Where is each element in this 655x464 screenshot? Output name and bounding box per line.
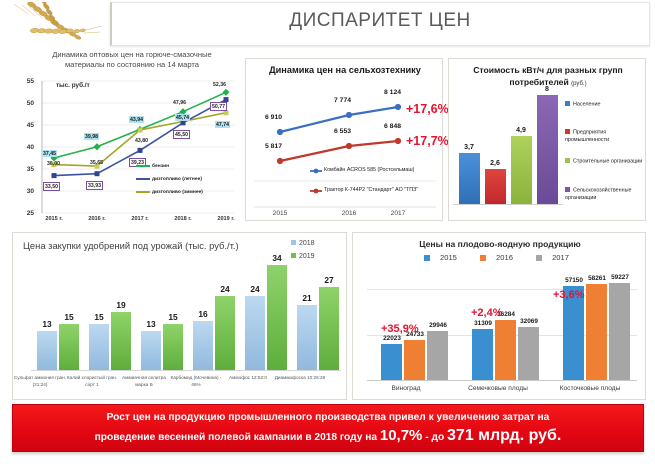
legend-swatch-construction [565, 158, 570, 163]
banner-line-2: проведение весенней полевой кампании в 2… [95, 427, 562, 445]
machinery-xtick-2017: 2017 [378, 210, 418, 217]
fuel-label-diesel-summer-2016: 33,93 [86, 181, 103, 190]
chart-fuel-prices: Динамика оптовых цен на горюче-смазочные… [12, 48, 240, 226]
fruit-bar-2015-pome [472, 329, 493, 381]
summary-banner: Рост цен на продукцию промышленного прои… [12, 404, 644, 452]
electricity-bar-construction [511, 136, 532, 205]
fertilizer-legend-label-2018: 2018 [299, 240, 315, 247]
chart-electricity-title: Стоимость кВт/ч для разных групп потреби… [455, 65, 641, 88]
fertilizer-xtick-1: Калий хлористый гран. сорт 1 [63, 375, 121, 389]
legend-swatch-fruit-2017 [536, 255, 542, 261]
fruit-value-2017-pome: 32069 [515, 318, 543, 325]
legend-swatch-industry [565, 129, 570, 134]
fertilizer-bar-2018-2 [141, 331, 161, 371]
fuel-label-diesel-summer-2018: 45,50 [173, 130, 190, 139]
fruit-legend-2015: 2015 [424, 253, 464, 262]
legend-marker-diesel-winter [136, 191, 150, 193]
chart-fruit-title: Цены на плодово-яодную продукцию [353, 239, 647, 249]
banner-highlight-amount: 371 млрд. руб. [447, 427, 561, 444]
electricity-bar-population [459, 153, 480, 205]
fruit-bar-2015-grapes [381, 344, 402, 381]
fuel-legend-diesel-summer: дизтопливо (летнее) [136, 177, 202, 182]
electricity-legend-label-agriculture: Сельскохозяйственные организации [565, 188, 631, 201]
fertilizer-value-2018-5: 21 [296, 293, 318, 303]
fruit-pct-pome: +2,4% [471, 307, 503, 319]
fruit-legend-label-2015: 2015 [440, 253, 457, 262]
chart-electricity-cost: Стоимость кВт/ч для разных групп потреби… [448, 58, 646, 221]
legend-swatch-2019 [291, 253, 296, 258]
fruit-legend-2016: 2016 [480, 253, 520, 262]
fertilizer-value-2018-3: 16 [192, 309, 214, 319]
machinery-legend-tractor: Трактор К-744Р2 "Стандарт" АО "ТПЗ" [324, 187, 418, 193]
fuel-label-benzin-2015: 37,45 [42, 150, 57, 157]
fertilizer-value-2018-2: 13 [140, 319, 162, 329]
electricity-legend-construction: Строительные организации [565, 158, 645, 166]
electricity-legend-label-construction: Строительные организации [573, 159, 642, 165]
fertilizer-bar-2018-3 [193, 321, 213, 371]
fertilizer-xtick-2: Аммиачная селитра марка Б [115, 375, 173, 389]
fruit-xtick-stone: Косточковые плоды [545, 385, 635, 392]
banner-highlight-percent: 10,7% [380, 427, 423, 444]
fuel-label-diesel-winter-2016: 35,65 [89, 159, 104, 166]
legend-swatch-2018 [291, 240, 296, 245]
fertilizer-bar-2019-3 [215, 296, 235, 371]
electricity-title-unit: (руб.) [571, 81, 586, 87]
chart-electricity-plot: 3,7 2,6 4,9 8 [453, 95, 563, 217]
fruit-bar-2016-stone [586, 284, 607, 381]
fruit-xtick-pome: Семечковые плоды [453, 385, 543, 392]
fuel-label-benzin-2017: 43,94 [129, 116, 144, 123]
legend-marker-benzin [136, 165, 150, 167]
machinery-label-tractor-2016: 6 553 [334, 128, 351, 135]
electricity-legend-label-population: Население [573, 102, 601, 108]
banner-line2-mid: - до [425, 432, 444, 443]
fertilizer-value-2019-5: 27 [318, 275, 340, 285]
chart-fruit-legend: 2015 2016 2017 [353, 253, 647, 262]
fuel-legend-benzin: бензин [136, 164, 169, 169]
electricity-value-construction: 4,9 [509, 127, 533, 134]
chart-machinery-plot: 6 910 7 774 8 124 5 817 6 553 6 848 +17,… [246, 81, 444, 222]
machinery-pct-tractor: +17,7% [406, 134, 449, 148]
fertilizer-bar-2019-1 [111, 312, 131, 371]
fertilizer-value-2019-2: 15 [162, 312, 184, 322]
electricity-title-text: Стоимость кВт/ч для разных групп потреби… [473, 65, 623, 87]
fertilizer-bar-2019-4 [267, 265, 287, 371]
fruit-xtick-grapes: Виноград [361, 385, 451, 392]
machinery-xtick-2015: 2015 [260, 210, 300, 217]
fertilizer-value-2019-0: 15 [58, 312, 80, 322]
machinery-xtick-2016: 2016 [329, 210, 369, 217]
chart-fuel-plot: 55 50 45 40 35 30 25 [12, 76, 240, 226]
machinery-pct-combine: +17,6% [406, 102, 449, 116]
fuel-label-diesel-summer-2015: 33,50 [43, 182, 60, 191]
fruit-bar-2017-pome [518, 327, 539, 381]
fuel-xtick-2017: 2017 г. [123, 216, 157, 222]
fertilizer-value-2019-4: 34 [266, 253, 288, 263]
fruit-value-2017-grapes: 29946 [424, 322, 452, 329]
legend-label-benzin: бензин [152, 164, 169, 169]
fertilizer-bar-2019-2 [163, 324, 183, 371]
fertilizer-bar-2018-1 [89, 324, 109, 371]
chart-machinery-prices: Динамика цен на сельхозтехнику 6 910 7 [245, 58, 443, 221]
fuel-label-benzin-2018: 47,96 [172, 99, 187, 106]
electricity-bar-industry [485, 169, 506, 205]
fuel-label-diesel-winter-2015: 36,00 [46, 160, 61, 167]
fuel-label-diesel-summer-2019: 50,77 [210, 102, 227, 111]
chart-machinery-title: Динамика цен на сельхозтехнику [246, 65, 444, 75]
machinery-label-tractor-2017: 6 848 [384, 123, 401, 130]
legend-swatch-fruit-2016 [480, 255, 486, 261]
legend-swatch-fruit-2015 [424, 255, 430, 261]
fruit-baseline [367, 380, 637, 381]
fuel-label-diesel-winter-2017: 43,80 [134, 137, 149, 144]
fertilizer-xtick-4: Аммофос 12:52:0 [219, 375, 277, 382]
fuel-label-benzin-2016: 39,98 [84, 133, 99, 140]
fuel-legend-diesel-winter: дизтопливо (зимнее) [136, 190, 203, 195]
electricity-bar-agriculture [537, 95, 558, 205]
electricity-legend-population: Население [565, 101, 645, 109]
chart-fruit-prices: Цены на плодово-яодную продукцию 2015 20… [352, 232, 646, 400]
fruit-legend-2017: 2017 [536, 253, 576, 262]
fertilizer-bar-2018-0 [37, 331, 57, 371]
fertilizer-xtick-5: Диаммофоска 10:26:26 [271, 375, 329, 382]
chart-fertilizer-plot: 13 15 15 19 13 15 16 24 24 34 21 27 [31, 259, 341, 371]
fuel-xtick-2015: 2015 г. [37, 216, 71, 222]
chart-fertilizer-title: Цена закупки удобрений под урожай (тыс. … [23, 240, 239, 251]
fuel-label-benzin-2019: 52,36 [212, 81, 227, 88]
electricity-baseline [453, 204, 563, 205]
chart-fuel-title: Динамика оптовых цен на горюче-смазочные… [32, 50, 232, 71]
legend-marker-diesel-summer [136, 178, 150, 180]
fruit-bar-2017-grapes [427, 331, 448, 381]
legend-label-diesel-summer: дизтопливо (летнее) [152, 177, 202, 182]
electricity-value-population: 3,7 [457, 144, 481, 151]
fruit-value-2017-stone: 59227 [606, 274, 634, 281]
fertilizer-value-2018-1: 15 [88, 312, 110, 322]
banner-line2-prefix: проведение весенней полевой кампании в 2… [95, 432, 377, 443]
banner-line-1: Рост цен на продукцию промышленного прои… [107, 412, 550, 423]
fuel-xtick-2019: 2019 г. [209, 216, 243, 222]
electricity-legend-agriculture: Сельскохозяйственные организации [565, 187, 645, 202]
electricity-value-industry: 2,6 [483, 160, 507, 167]
fertilizer-xtick-3: Карбомид (Мочевина) - 46% [167, 375, 225, 389]
fertilizer-legend-2018: 2018 [291, 240, 315, 247]
fertilizer-bar-2019-0 [59, 324, 79, 371]
fertilizer-bar-2018-5 [297, 305, 317, 371]
wheat-ears-icon [8, 2, 108, 48]
fruit-bar-2017-stone [609, 283, 630, 381]
machinery-label-combine-2016: 7 774 [334, 97, 351, 104]
fertilizer-value-2018-0: 13 [36, 319, 58, 329]
fuel-label-diesel-winter-2019: 47,74 [215, 121, 230, 128]
fuel-xtick-2016: 2016 г. [80, 216, 114, 222]
fertilizer-bar-2018-4 [245, 296, 265, 371]
legend-label-diesel-winter: дизтопливо (зимнее) [152, 190, 203, 195]
fertilizer-xtick-0: Сульфат аммония гран. (21:24) [11, 375, 69, 389]
machinery-label-tractor-2015: 5 817 [265, 143, 282, 150]
fruit-bar-2016-pome [495, 320, 516, 381]
fruit-legend-label-2017: 2017 [552, 253, 569, 262]
fuel-label-diesel-winter-2018: 45,74 [175, 114, 190, 121]
fertilizer-bar-2019-5 [319, 287, 339, 371]
machinery-label-combine-2017: 8 124 [384, 89, 401, 96]
fuel-xtick-2018: 2018 г. [166, 216, 200, 222]
electricity-value-agriculture: 8 [535, 86, 559, 93]
fruit-value-2015-pome: 31309 [469, 320, 497, 327]
slide-header: ДИСПАРИТЕТ ЦЕН [0, 0, 655, 48]
fertilizer-value-2019-3: 24 [214, 284, 236, 294]
fruit-pct-stone: +3,6% [553, 289, 585, 301]
electricity-legend-label-industry: Предприятия промышленности [565, 130, 609, 143]
fruit-bar-2016-grapes [404, 340, 425, 381]
page-title: ДИСПАРИТЕТ ЦЕН [110, 10, 650, 32]
chart-fertilizer-prices: Цена закупки удобрений под урожай (тыс. … [12, 232, 347, 400]
fertilizer-baseline [31, 370, 341, 371]
fertilizer-value-2019-1: 19 [110, 300, 132, 310]
fertilizer-value-2018-4: 24 [244, 284, 266, 294]
machinery-legend-combine: Комбайн ACROS 585 (Ростсельмаш) [324, 167, 414, 173]
legend-swatch-population [565, 101, 570, 106]
legend-swatch-agriculture [565, 187, 570, 192]
machinery-label-combine-2015: 6 910 [265, 114, 282, 121]
fruit-legend-label-2016: 2016 [496, 253, 513, 262]
fruit-pct-grapes: +35,9% [381, 323, 419, 335]
electricity-legend-industry: Предприятия промышленности [565, 129, 645, 144]
